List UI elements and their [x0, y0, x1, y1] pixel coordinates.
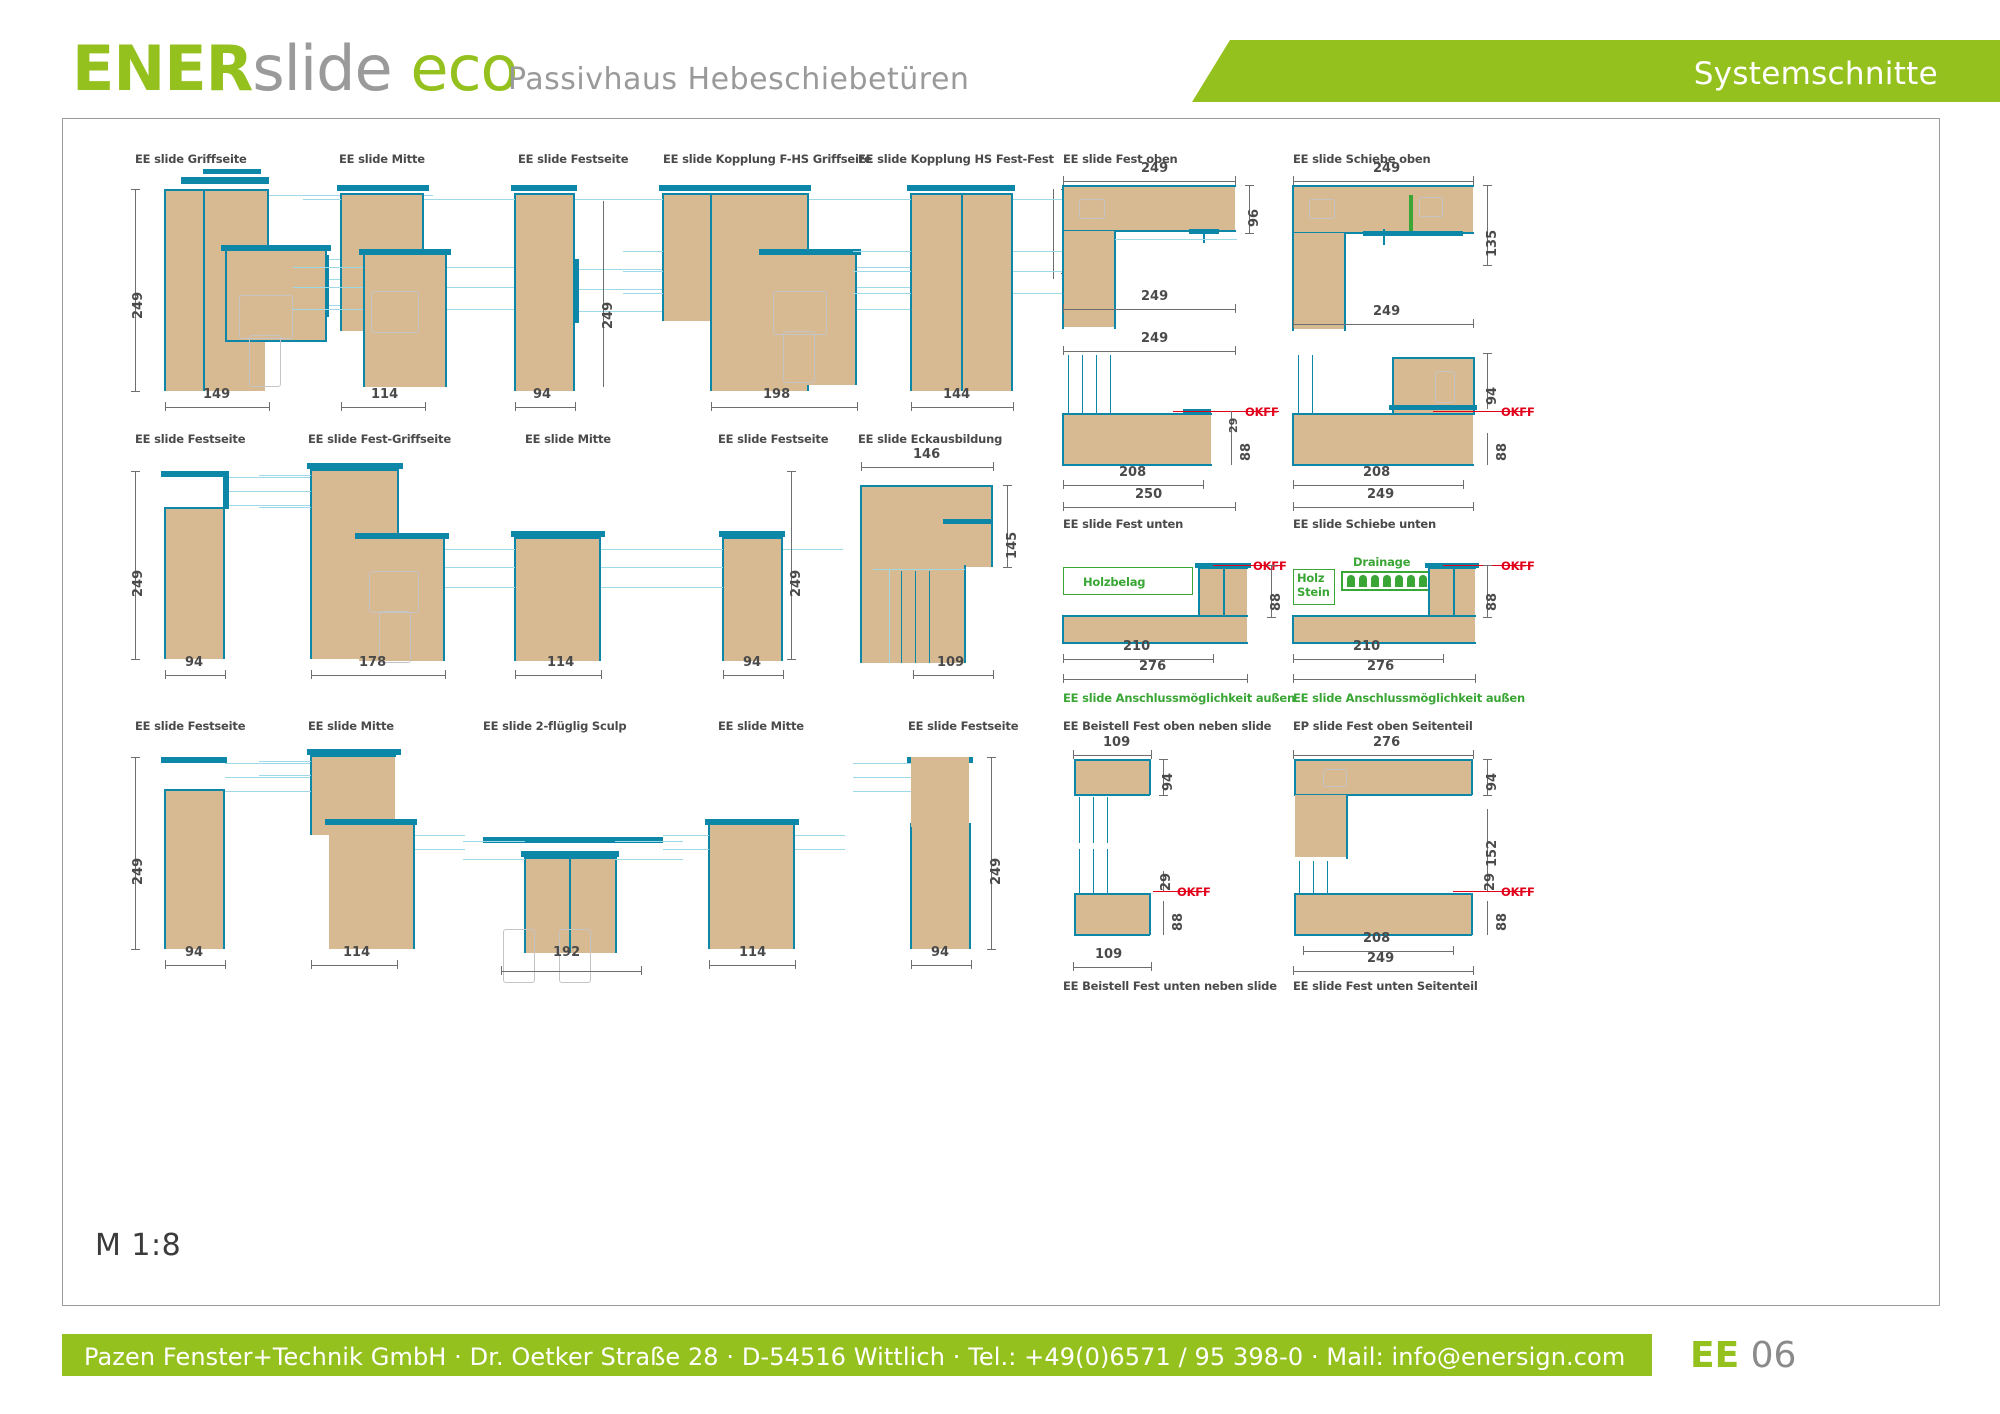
hardware-symbol: [773, 291, 827, 335]
dimension-horizontal: 94: [185, 945, 203, 960]
note-drainage: Drainage: [1353, 555, 1410, 569]
figure-caption: EE slide Fest unten: [1063, 517, 1183, 531]
okff-marker: OKFF: [1501, 559, 1535, 573]
dimension-vertical: 249: [131, 570, 146, 597]
figure-caption: EE slide Festseite: [908, 719, 1018, 733]
hardware-symbol: [369, 571, 419, 613]
dimension-bottom: 249: [1141, 289, 1168, 304]
figure-caption: EE slide Fest-Griffseite: [308, 432, 451, 446]
page-number: 06: [1751, 1335, 1797, 1376]
brand-logo: ENERslide eco: [72, 38, 518, 100]
dimension-bottom-1: 210: [1123, 639, 1150, 654]
dimension-bottom-1: 210: [1353, 639, 1380, 654]
figure-caption: EE slide Mitte: [339, 152, 425, 166]
dimension-horizontal-top: 146: [913, 447, 940, 462]
dimension-horizontal: 94: [533, 387, 551, 402]
dimension-horizontal: 114: [547, 655, 574, 670]
dimension-right: 94: [1161, 773, 1176, 791]
figure-caption: EE slide Mitte: [308, 719, 394, 733]
figure-caption: EE slide Eckausbildung: [858, 432, 1002, 446]
hardware-symbol: [1435, 371, 1455, 403]
page-header: ENERslide eco Passivhaus Hebeschiebetüre…: [0, 0, 2000, 118]
logo-eco: eco: [410, 32, 517, 105]
dimension-bottom-2: 249: [1367, 487, 1394, 502]
dimension-horizontal: 149: [203, 387, 230, 402]
hardware-symbol: [1309, 199, 1335, 219]
dimension-top: 249: [1141, 161, 1168, 176]
dimension-vertical: 249: [131, 858, 146, 885]
dimension-horizontal: 94: [743, 655, 761, 670]
dimension-bottom-1: 208: [1363, 931, 1390, 946]
hardware-symbol: [783, 331, 815, 383]
figure-caption: EE slide Schiebe unten: [1293, 517, 1436, 531]
okff-marker: OKFF: [1177, 885, 1211, 899]
dimension-horizontal: 114: [371, 387, 398, 402]
figure-caption: EE slide Schiebe oben: [1293, 152, 1430, 166]
okff-marker: OKFF: [1501, 405, 1535, 419]
dimension-top: 109: [1103, 735, 1130, 750]
okff-marker: OKFF: [1501, 885, 1535, 899]
dimension-horizontal: 192: [553, 945, 580, 960]
dimension-vertical: 249: [131, 292, 146, 319]
figure-caption: EE slide Anschlussmöglichkeit außen: [1063, 691, 1295, 705]
dimension-right: 94: [1485, 773, 1500, 791]
figure-caption: EE slide Festseite: [135, 719, 245, 733]
dimension-top: 249: [1141, 331, 1168, 346]
figure-caption: EE slide Griffseite: [135, 152, 247, 166]
dimension-right-2: 88: [1171, 913, 1186, 931]
figure-caption: EE slide Festseite: [718, 432, 828, 446]
okff-marker: OKFF: [1245, 405, 1279, 419]
logo-slide: slide: [252, 32, 391, 105]
dimension-horizontal: 144: [943, 387, 970, 402]
okff-marker: OKFF: [1253, 559, 1287, 573]
footer-contact-text: Pazen Fenster+Technik GmbH · Dr. Oetker …: [84, 1343, 1625, 1371]
dimension-bottom-1: 208: [1119, 465, 1146, 480]
dimension-horizontal-bottom: 109: [937, 655, 964, 670]
scale-label: M 1:8: [95, 1228, 181, 1263]
dimension-right-2: 88: [1495, 443, 1510, 461]
dimension-vertical: 249: [989, 858, 1004, 885]
dimension-bottom-2: 276: [1367, 659, 1394, 674]
dimension-horizontal: 178: [359, 655, 386, 670]
dimension-top: 249: [1373, 161, 1400, 176]
hardware-symbol: [371, 291, 419, 333]
figure-caption: EE slide Anschlussmöglichkeit außen: [1293, 691, 1525, 705]
dimension-right-2: 88: [1495, 913, 1510, 931]
dimension-vertical: 249: [789, 570, 804, 597]
dimension-bottom-2: 276: [1139, 659, 1166, 674]
dimension-horizontal: 94: [931, 945, 949, 960]
figure-caption: EE slide Kopplung HS Fest-Fest: [858, 152, 1054, 166]
dimension-right: 96: [1247, 209, 1262, 227]
logo-ener: ENER: [72, 32, 252, 105]
dimension-bottom: 109: [1095, 947, 1122, 962]
hardware-symbol: [503, 929, 535, 983]
dimension-right-mid: 152: [1485, 840, 1500, 867]
page-prefix: EE: [1690, 1335, 1739, 1376]
dimension-horizontal: 114: [739, 945, 766, 960]
page-marker: EE 06: [1690, 1335, 1796, 1376]
hardware-symbol: [1323, 769, 1347, 787]
note-holz-stein: Holz Stein: [1297, 571, 1330, 599]
dimension-vertical-row1: 249: [601, 302, 616, 329]
figure-caption: EE slide Festseite: [135, 432, 245, 446]
dimension-right-2: 88: [1239, 443, 1254, 461]
figure-caption-top: EP slide Fest oben Seitenteil: [1293, 719, 1473, 733]
dimension-horizontal: 198: [763, 387, 790, 402]
section-banner-label: Systemschnitte: [1694, 56, 1938, 92]
dimension-bottom-1: 208: [1363, 465, 1390, 480]
dimension-right: 88: [1485, 593, 1500, 611]
header-subtitle: Passivhaus Hebeschiebetüren: [508, 62, 969, 97]
dimension-right: 94: [1485, 387, 1500, 405]
dimension-right-1: 29: [1159, 873, 1174, 891]
figure-caption-bottom: EE Beistell Fest unten neben slide: [1063, 979, 1277, 993]
dimension-bottom-2: 250: [1135, 487, 1162, 502]
dimension-right: 88: [1269, 593, 1284, 611]
dimension-vertical: 145: [1005, 532, 1020, 559]
dimension-horizontal: 114: [343, 945, 370, 960]
hardware-symbol: [1079, 199, 1105, 219]
hardware-symbol: [239, 295, 293, 339]
hardware-symbol: [249, 335, 281, 387]
dimension-right: 135: [1485, 230, 1500, 257]
hardware-symbol: [1419, 197, 1443, 217]
dimension-right-1: 29: [1483, 873, 1498, 891]
dimension-bottom-2: 249: [1367, 951, 1394, 966]
figure-caption: EE slide Kopplung F-HS Griffseite: [663, 152, 872, 166]
figure-caption: EE slide Mitte: [525, 432, 611, 446]
figure-caption: EE slide Festseite: [518, 152, 628, 166]
dimension-horizontal: 94: [185, 655, 203, 670]
figure-caption: EE slide 2-flüglig Sculp: [483, 719, 626, 733]
dimension-bottom: 249: [1373, 304, 1400, 319]
figure-caption: EE slide Mitte: [718, 719, 804, 733]
figure-caption-top: EE Beistell Fest oben neben slide: [1063, 719, 1271, 733]
note-holzbelag: Holzbelag: [1083, 575, 1145, 589]
figure-caption-bottom: EE slide Fest unten Seitenteil: [1293, 979, 1478, 993]
drawing-sheet: EE slide Griffseite 249 149 EE slide Mit…: [62, 118, 1940, 1306]
dimension-top: 276: [1373, 735, 1400, 750]
dimension-right-1: 29: [1227, 418, 1240, 433]
